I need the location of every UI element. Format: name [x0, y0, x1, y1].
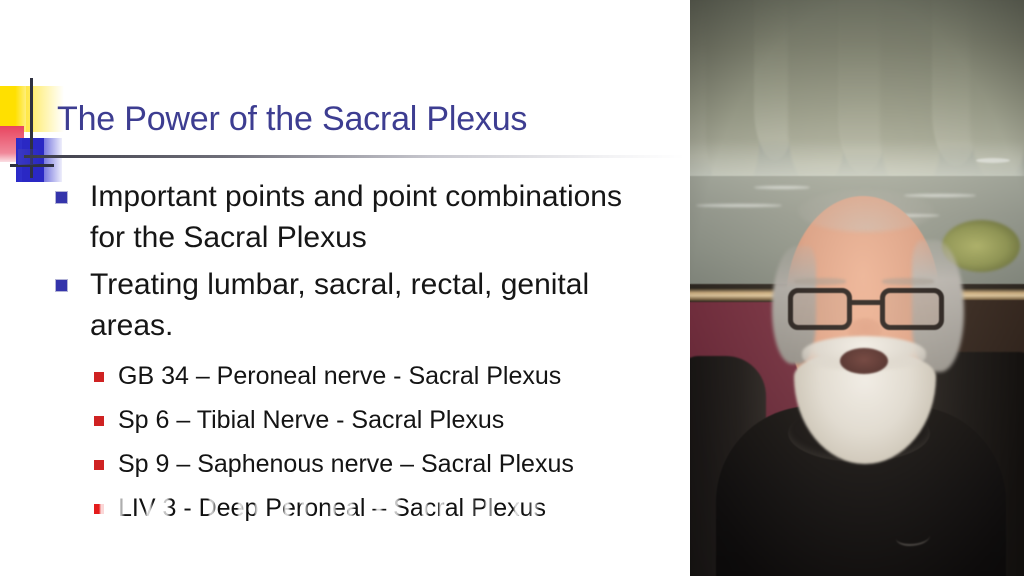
eyeglass-bridge — [850, 300, 882, 305]
webcam-video-panel[interactable] — [690, 0, 1024, 576]
presenter-mouth — [840, 348, 888, 374]
presenter-eyebrow-left — [794, 278, 846, 285]
presenter-eyebrow-right — [882, 278, 934, 285]
sub-bullet-label: GB 34 – Peroneal nerve - Sacral Plexus — [118, 362, 561, 390]
square-bullet-icon — [94, 460, 104, 470]
slide-body-list: Important points and point combinations … — [48, 176, 690, 530]
presenter-hair-top — [798, 190, 934, 232]
painting-boat — [976, 158, 1010, 163]
list-item: Sp 6 – Tibial Nerve - Sacral Plexus — [92, 398, 690, 442]
list-item: Treating lumbar, sacral, rectal, genital… — [48, 264, 690, 346]
eyeglass-lens-right — [880, 288, 944, 330]
square-bullet-icon — [94, 416, 104, 426]
sub-bullet-label: Sp 9 – Saphenous nerve – Sacral Plexus — [118, 450, 574, 478]
list-item: LIV 3 - Deep Peroneal – Sacral Plexus — [92, 486, 690, 530]
bullet-line-1: Treating lumbar, sacral, rectal, genital — [90, 268, 589, 301]
slide-sub-list: GB 34 – Peroneal nerve - Sacral Plexus S… — [48, 354, 690, 530]
webcam-scene — [690, 0, 1024, 576]
square-bullet-icon — [94, 504, 104, 514]
title-underline-rule — [24, 155, 684, 158]
bullet-line-2: areas. — [90, 305, 690, 346]
bullet-line-1: Important points and point combinations — [90, 180, 622, 213]
list-item: Sp 9 – Saphenous nerve – Sacral Plexus — [92, 442, 690, 486]
square-bullet-icon — [56, 192, 67, 203]
square-bullet-icon — [94, 372, 104, 382]
list-item: Important points and point combinations … — [48, 176, 690, 258]
list-item: GB 34 – Peroneal nerve - Sacral Plexus — [92, 354, 690, 398]
painting-ripple — [754, 186, 810, 189]
eyeglass-lens-left — [788, 288, 852, 330]
square-bullet-icon — [56, 280, 67, 291]
slide-title: The Power of the Sacral Plexus — [57, 100, 527, 139]
sub-bullet-label: LIV 3 - Deep Peroneal – Sacral Plexus — [118, 494, 546, 522]
sub-bullet-label: Sp 6 – Tibial Nerve - Sacral Plexus — [118, 406, 504, 434]
painting-ripple — [696, 204, 782, 207]
presentation-slide: The Power of the Sacral Plexus Important… — [0, 0, 690, 576]
screen-share-view: The Power of the Sacral Plexus Important… — [0, 0, 1024, 576]
bullet-line-2: for the Sacral Plexus — [90, 217, 690, 258]
